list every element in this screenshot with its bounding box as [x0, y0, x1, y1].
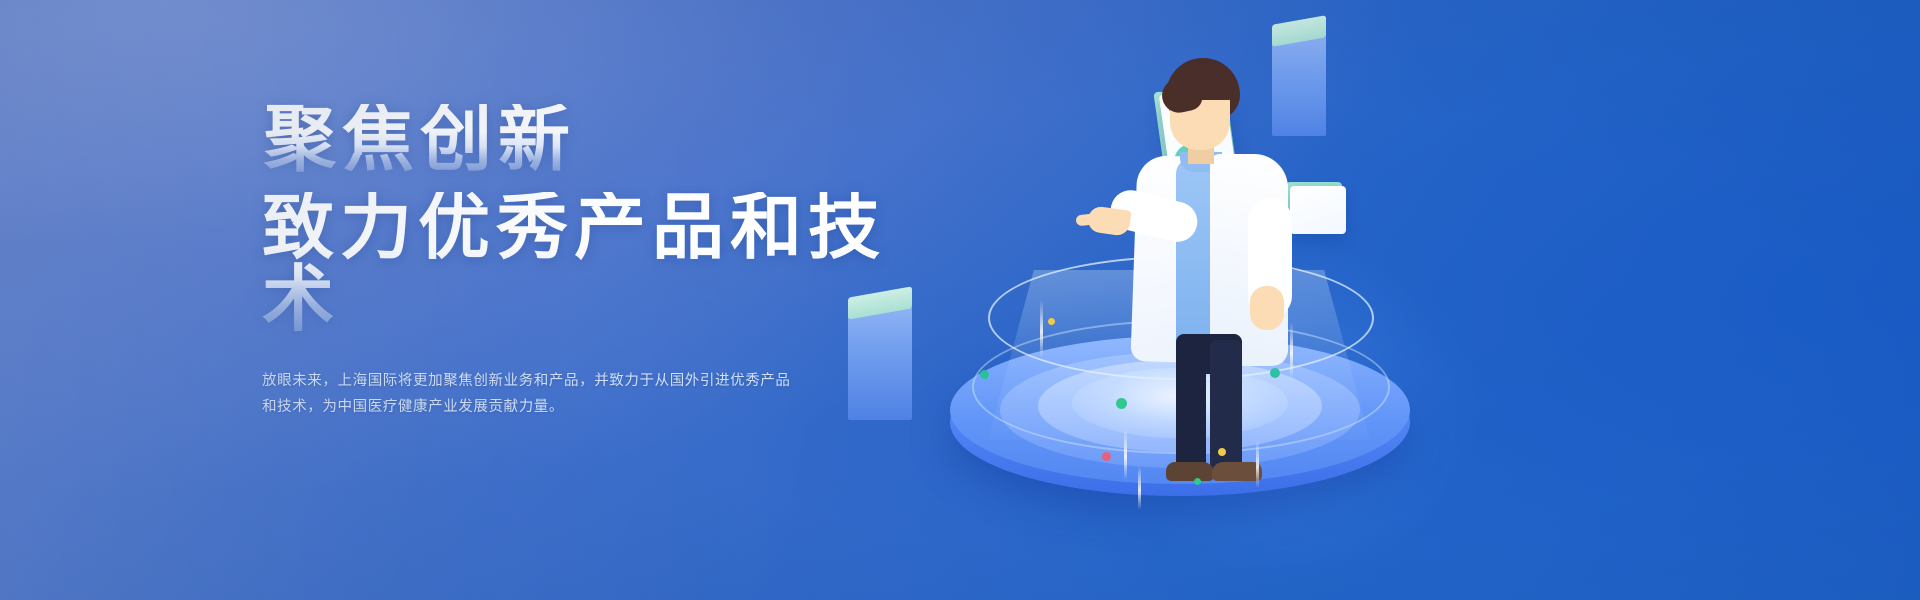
particle-dot	[980, 370, 989, 379]
particle-dot	[1194, 478, 1201, 485]
shoe-right	[1212, 462, 1262, 481]
shoe-left	[1166, 462, 1214, 481]
light-streak	[1290, 322, 1293, 378]
headline-line-1: 聚焦创新	[264, 104, 902, 176]
hero-banner: 聚焦创新 致力优秀产品和技术 放眼未来，上海国际将更加聚焦创新业务和产品，并致力…	[0, 0, 1920, 600]
banner-copy: 聚焦创新 致力优秀产品和技术	[262, 104, 902, 336]
light-streak	[1256, 440, 1259, 488]
banner-headline: 聚焦创新 致力优秀产品和技术	[262, 104, 902, 336]
headline-line-2: 致力优秀产品和技术	[262, 192, 902, 336]
decor-bar-short-icon	[848, 290, 912, 420]
particle-dot	[1218, 448, 1226, 456]
banner-subtitle: 放眼未来，上海国际将更加聚焦创新业务和产品，并致力于从国外引进优秀产品 和技术，…	[262, 368, 852, 420]
particle-dot	[1102, 452, 1111, 461]
subtitle-line-2: 和技术，为中国医疗健康产业发展贡献力量。	[262, 394, 852, 420]
particle-dot	[1270, 368, 1280, 378]
doctor-figure	[1070, 48, 1370, 478]
subtitle-line-1: 放眼未来，上海国际将更加聚焦创新业务和产品，并致力于从国外引进优秀产品	[262, 368, 852, 394]
light-streak	[1138, 466, 1141, 510]
light-streak	[1040, 300, 1043, 358]
banner-illustration	[820, 0, 1920, 600]
particle-dot	[1048, 318, 1055, 325]
particle-dot	[1116, 398, 1127, 409]
light-streak	[1124, 428, 1127, 480]
